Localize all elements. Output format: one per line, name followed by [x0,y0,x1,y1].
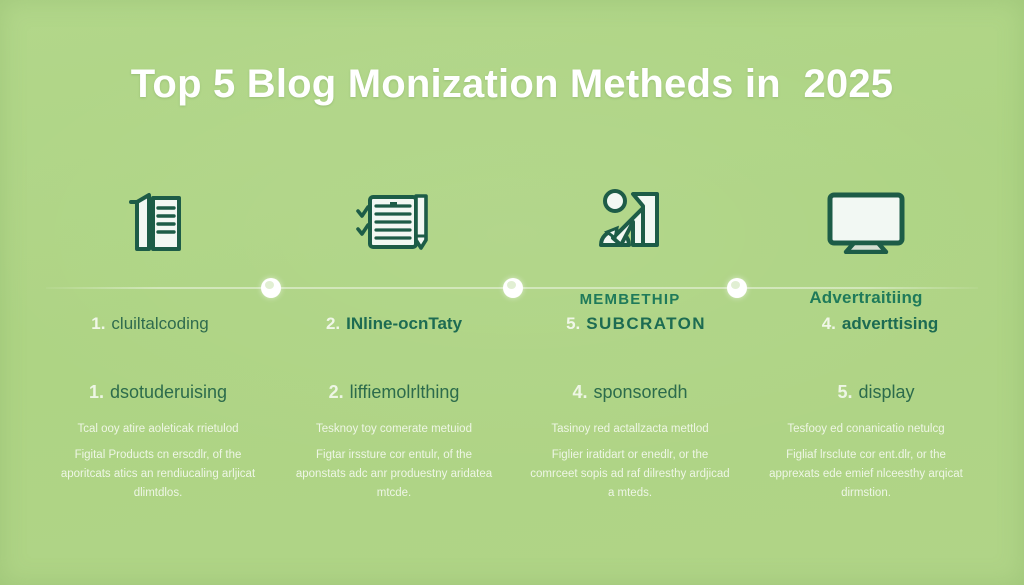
column-2-lead: Tesknoy toy comerate metuiod [292,421,496,438]
column-1-body: Tcal ooy atire aoleticak rrietulod Figit… [40,421,276,503]
column-1-row1-text: cluiltalcoding [111,314,208,333]
column-1-row2-text: dsotuderuising [110,382,227,402]
column-1-row1-number: 1. [91,314,105,333]
column-4-paragraph: Figliaf lrsclute cor ent.dlr, or the app… [764,446,968,503]
column-4-row1-label: 4.adverttising [822,314,939,334]
column-1-row2-label: 1.dsotuderuising [89,382,227,403]
column-1-row2-number: 1. [89,382,104,402]
column-2-secondary-label: 2.liffiemolrlthing [276,382,512,403]
column-2-row1-text: INline-ocnTaty [346,314,462,333]
method-column-2: 2.INline-ocnTaty 2.liffiemolrlthing Tesk… [276,180,512,503]
column-2-row2-label: 2.liffiemolrlthing [329,382,460,403]
column-3-row2-label: 4.sponsoredh [572,382,687,403]
column-3-primary-label: MEMBETHIP 5.SUBCRATON [512,288,748,334]
column-4-eyebrow: Advertraitiing [809,288,922,308]
column-3-lead: Tasinoy red actallzacta mettlod [528,421,732,438]
column-4-row1-text: adverttising [842,314,938,333]
column-3-row2-number: 4. [572,382,587,402]
column-3-eyebrow: MEMBETHIP [580,291,681,308]
checklist-pencil-icon [276,180,512,264]
monitor-display-icon [748,180,984,264]
column-1-row1-label: 1.cluiltalcoding [91,314,209,334]
column-3-paragraph: Figlier iratidart or enedlr, or the comr… [528,446,732,503]
column-1-primary-label: 1.cluiltalcoding [40,288,276,334]
column-2-row1-label: 2.INline-ocnTaty [326,314,462,334]
column-4-row2-number: 5. [837,382,852,402]
member-growth-arrow-icon [512,180,748,264]
column-3-secondary-label: 4.sponsoredh [512,382,748,403]
column-3-body: Tasinoy red actallzacta mettlod Figlier … [512,421,748,503]
column-2-body: Tesknoy toy comerate metuiod Figtar irss… [276,421,512,503]
column-1-lead: Tcal ooy atire aoleticak rrietulod [56,421,260,438]
column-3-row1-text: SUBCRATON [586,314,706,333]
column-4-primary-label: Advertraitiing 4.adverttising [748,288,984,334]
column-2-row2-number: 2. [329,382,344,402]
method-column-4: Advertraitiing 4.adverttising 5.display … [748,180,984,503]
column-1-paragraph: Figital Products cn erscdlr, of the apor… [56,446,260,503]
numeral-one-document-icon [40,180,276,264]
page-title: Top 5 Blog Monization Metheds in 2025 [0,62,1024,107]
column-3-row1-number: 5. [566,314,580,333]
method-column-3: MEMBETHIP 5.SUBCRATON 4.sponsoredh Tasin… [512,180,748,503]
column-3-row2-text: sponsoredh [593,382,687,402]
column-1-secondary-label: 1.dsotuderuising [40,382,276,403]
column-2-row1-number: 2. [326,314,340,333]
column-4-row1-number: 4. [822,314,836,333]
method-columns: 1.cluiltalcoding 1.dsotuderuising Tcal o… [40,180,984,503]
column-4-secondary-label: 5.display [748,382,984,403]
column-2-row2-text: liffiemolrlthing [350,382,460,402]
method-column-1: 1.cluiltalcoding 1.dsotuderuising Tcal o… [40,180,276,503]
column-4-row2-text: display [858,382,914,402]
column-4-lead: Tesfooy ed conanicatio netulcg [764,421,968,438]
column-2-primary-label: 2.INline-ocnTaty [276,288,512,334]
column-4-body: Tesfooy ed conanicatio netulcg Figliaf l… [748,421,984,503]
column-2-paragraph: Figtar irssture cor entulr, of the apons… [292,446,496,503]
column-4-row2-label: 5.display [837,382,914,403]
column-3-row1-label: 5.SUBCRATON [566,314,706,334]
